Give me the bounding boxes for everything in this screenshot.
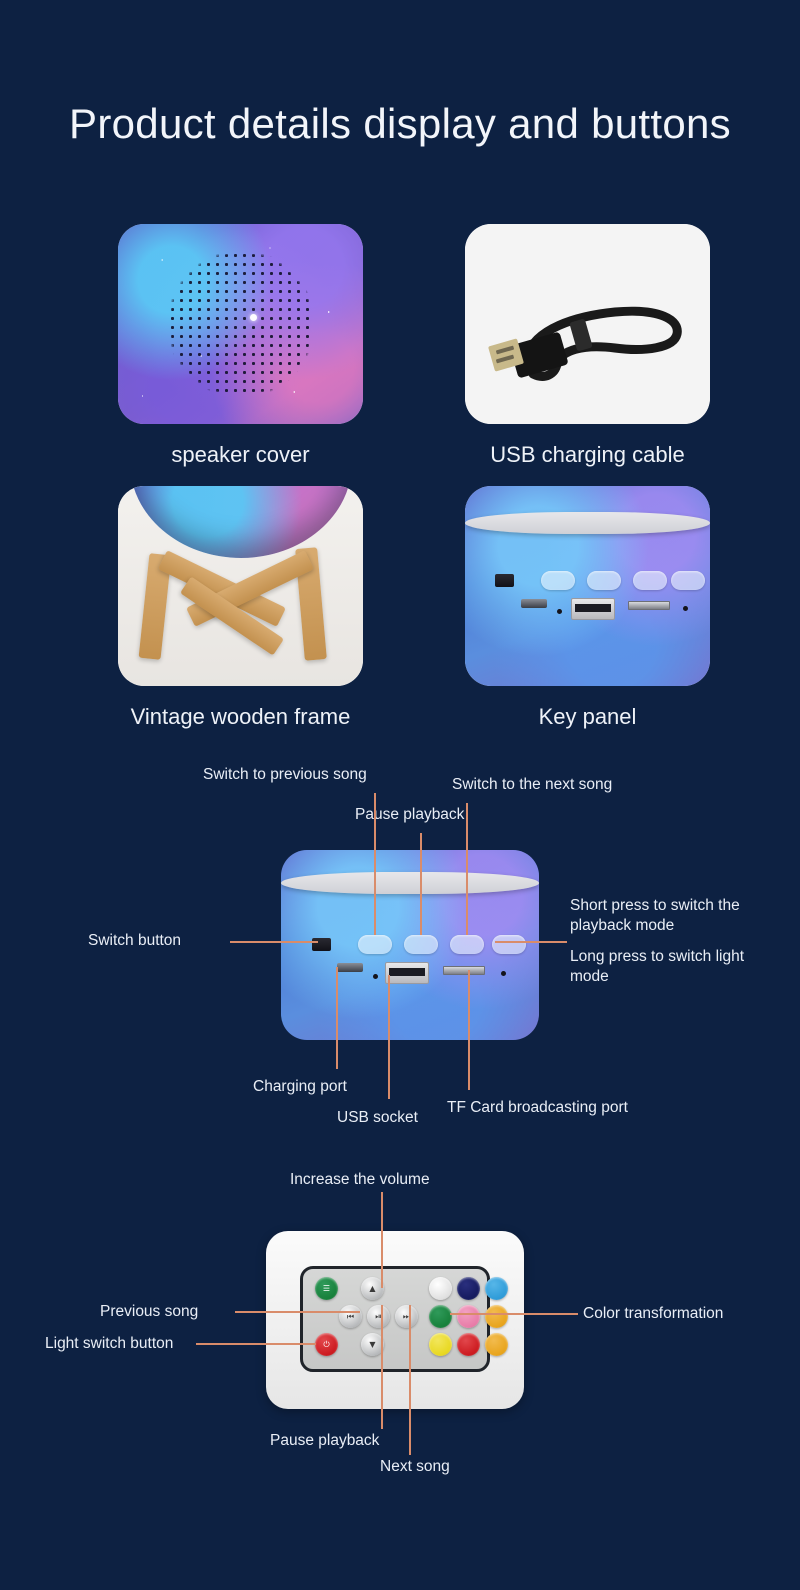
remote-color-red[interactable] [457, 1333, 480, 1356]
leader-line-volume-up [381, 1192, 383, 1288]
seam-band [465, 512, 710, 534]
tile-usb-cable: USB charging cable [465, 224, 710, 468]
tile-key-panel: Key panel [465, 486, 710, 730]
page-title: Product details display and buttons [0, 100, 800, 148]
label-usb-socket: USB socket [337, 1108, 418, 1128]
button-mode-icon [492, 935, 526, 954]
leader-line-tf-card [468, 970, 470, 1090]
remote-color-yellow[interactable] [429, 1333, 452, 1356]
button-previous-icon [358, 935, 392, 954]
tile-wooden-frame: Vintage wooden frame [118, 486, 363, 730]
leader-line-next-song [466, 803, 468, 935]
speaker-cover-image [118, 224, 363, 424]
button-next-icon [450, 935, 484, 954]
leader-line-usb-socket [388, 975, 390, 1099]
leader-line-charging-port [336, 967, 338, 1069]
label-pause-playback: Pause playback [355, 805, 464, 825]
remote-face-plate: ☰ ⏻ ▲ ⏮ ⏯ ⏭ ▼ [300, 1266, 490, 1372]
remote-color-pink[interactable] [457, 1305, 480, 1328]
tf-card-slot-icon [628, 601, 670, 610]
leader-line-playback-mode [495, 941, 567, 943]
reset-hole-icon [373, 974, 378, 979]
power-switch-icon [495, 574, 514, 587]
micro-usb-port-icon [521, 599, 547, 608]
leader-line-pause [381, 1305, 383, 1429]
product-detail-page: Product details display and buttons spea… [0, 0, 800, 1590]
button-next-icon [633, 571, 667, 590]
leader-line-light-switch [196, 1343, 316, 1345]
leader-line-pause [420, 833, 422, 935]
remote-color-blue[interactable] [485, 1277, 508, 1300]
remote-color-white[interactable] [429, 1277, 452, 1300]
button-mode-icon [671, 571, 705, 590]
remote-control-image: ☰ ⏻ ▲ ⏮ ⏯ ⏭ ▼ [266, 1231, 524, 1409]
leader-line-previous-song [374, 793, 376, 935]
remote-color-navy[interactable] [457, 1277, 480, 1300]
label-light-mode: Long press to switch light mode [570, 947, 760, 988]
button-previous-icon [541, 571, 575, 590]
remote-button-light-mode[interactable]: ☰ [315, 1277, 338, 1300]
key-panel-diagram-image [281, 850, 539, 1040]
mic-hole-icon [501, 971, 506, 976]
label-next-song: Switch to the next song [452, 775, 612, 795]
label-pause-playback: Pause playback [270, 1431, 379, 1451]
wooden-frame-image [118, 486, 363, 686]
leader-line-next-song [409, 1305, 411, 1455]
remote-color-orange-mid[interactable] [485, 1305, 508, 1328]
leader-line-previous-song [235, 1311, 360, 1313]
usb-cable-image [465, 224, 710, 424]
leader-line-color-transformation [450, 1313, 578, 1315]
speaker-grille-icon [166, 249, 316, 399]
tile-caption: Key panel [465, 704, 710, 730]
power-switch-icon [312, 938, 331, 951]
remote-button-next[interactable]: ⏭ [395, 1305, 418, 1328]
remote-color-orange[interactable] [485, 1333, 508, 1356]
remote-button-pause[interactable]: ⏯ [367, 1305, 390, 1328]
tile-caption: Vintage wooden frame [118, 704, 363, 730]
label-charging-port: Charging port [253, 1077, 347, 1097]
tile-caption: USB charging cable [465, 442, 710, 468]
tile-speaker-cover: speaker cover [118, 224, 363, 468]
usb-cable-icon [465, 224, 710, 424]
label-color-transformation: Color transformation [583, 1304, 723, 1324]
tf-card-slot-icon [443, 966, 485, 975]
label-previous-song: Previous song [100, 1302, 198, 1322]
label-switch-button: Switch button [88, 931, 181, 951]
key-panel-image [465, 486, 710, 686]
button-pause-icon [587, 571, 621, 590]
label-previous-song: Switch to previous song [203, 765, 367, 785]
usb-socket-icon [571, 598, 615, 620]
leader-line-switch-button [230, 941, 318, 943]
micro-usb-port-icon [337, 963, 363, 972]
remote-button-power[interactable]: ⏻ [315, 1333, 338, 1356]
seam-band [281, 872, 539, 894]
label-tf-card-port: TF Card broadcasting port [447, 1098, 628, 1118]
button-pause-icon [404, 935, 438, 954]
label-increase-volume: Increase the volume [290, 1170, 430, 1190]
tile-caption: speaker cover [118, 442, 363, 468]
mic-hole-icon [683, 606, 688, 611]
label-playback-mode: Short press to switch the playback mode [570, 896, 780, 937]
label-next-song: Next song [380, 1457, 450, 1477]
usb-socket-icon [385, 962, 429, 984]
remote-color-green[interactable] [429, 1305, 452, 1328]
reset-hole-icon [557, 609, 562, 614]
label-light-switch-button: Light switch button [45, 1334, 173, 1354]
remote-button-previous[interactable]: ⏮ [339, 1305, 362, 1328]
